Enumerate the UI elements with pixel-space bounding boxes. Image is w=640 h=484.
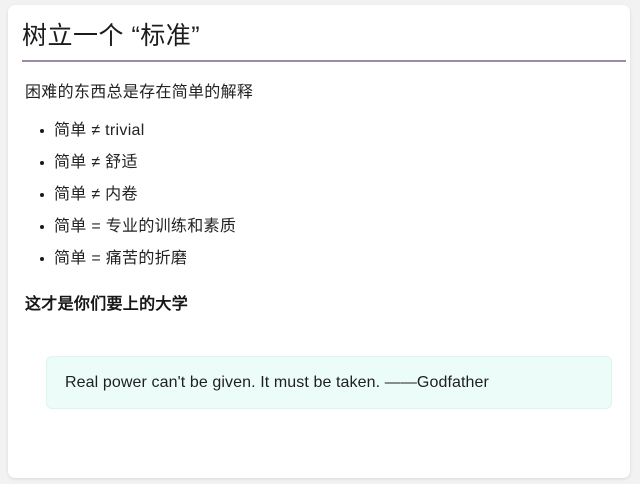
list-item-label: 简单 ≠ 内卷 (54, 186, 138, 203)
emphasis-line: 这才是你们要上的大学 (25, 293, 188, 316)
slide-card: 树立一个 “标准” 困难的东西总是存在简单的解释 简单 ≠ trivial 简单… (8, 5, 630, 478)
list-item: 简单 ≠ trivial (26, 115, 586, 147)
list-item-label: 简单 ≠ 舒适 (54, 154, 138, 171)
list-item: 简单 ≠ 舒适 (26, 147, 586, 179)
list-item: 简单 = 痛苦的折磨 (26, 243, 586, 275)
bullet-dot-icon (40, 257, 44, 261)
quote-text: Real power can't be given. It must be ta… (47, 372, 489, 394)
list-item: 简单 ≠ 内卷 (26, 179, 586, 211)
bullet-dot-icon (40, 129, 44, 133)
title-divider (22, 60, 626, 62)
bullet-dot-icon (40, 225, 44, 229)
bullet-list: 简单 ≠ trivial 简单 ≠ 舒适 简单 ≠ 内卷 简单 = 专业的训练和… (26, 115, 586, 275)
bullet-dot-icon (40, 193, 44, 197)
list-item-label: 简单 = 专业的训练和素质 (54, 218, 236, 235)
bullet-dot-icon (40, 161, 44, 165)
lead-paragraph: 困难的东西总是存在简单的解释 (25, 81, 253, 104)
list-item-label: 简单 ≠ trivial (54, 122, 145, 139)
list-item: 简单 = 专业的训练和素质 (26, 211, 586, 243)
page-title: 树立一个 “标准” (22, 19, 618, 53)
list-item-label: 简单 = 痛苦的折磨 (54, 250, 187, 267)
title-block: 树立一个 “标准” (22, 19, 618, 62)
quote-callout: Real power can't be given. It must be ta… (46, 356, 612, 409)
